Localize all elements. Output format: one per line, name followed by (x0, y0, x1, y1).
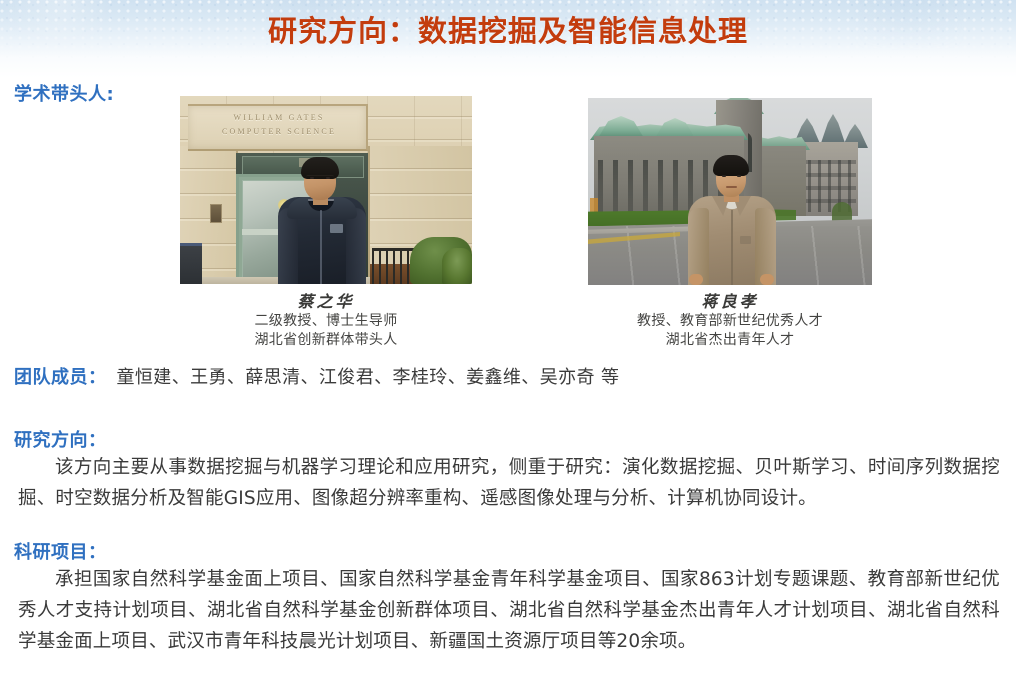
person-eye-right (737, 175, 741, 177)
leader-photo-caizhihua: WILLIAM GATES COMPUTER SCIENCE (180, 96, 472, 284)
team-members-value: 童恒建、王勇、薛思清、江俊君、李桂玲、姜鑫维、吴亦奇 等 (117, 367, 620, 388)
person-mouth (726, 186, 737, 188)
shrub-secondary (442, 248, 472, 284)
leader-title-line2: 湖北省创新群体带头人 (180, 331, 472, 350)
jacket-pocket (740, 236, 751, 244)
section-heading-projects: 科研项目： (14, 538, 107, 564)
leader-photo-jiangliangxiao (588, 98, 872, 285)
projects-paragraph: 承担国家自然科学基金面上项目、国家自然科学基金青年科学基金项目、国家863计划专… (18, 564, 1000, 657)
jacket-logo (330, 224, 343, 233)
person-hair (713, 155, 749, 176)
leader-name: 蔡之华 (180, 292, 472, 312)
leader-title-line2: 湖北省杰出青年人才 (588, 331, 872, 350)
section-heading-research: 研究方向： (14, 426, 107, 452)
jacket-zipper (731, 210, 733, 285)
jacket-zipper (320, 210, 322, 284)
person-arm-right (346, 208, 366, 284)
research-paragraph: 该方向主要从事数据挖掘与机器学习理论和应用研究，侧重于研究：演化数据挖掘、贝叶斯… (18, 452, 1000, 514)
slide-root: 研究方向：数据挖掘及智能信息处理 学术带头人: WILLIAM GATES CO… (0, 0, 1016, 683)
leader-title-line1: 二级教授、博士生导师 (180, 312, 472, 331)
section-heading-leaders: 学术带头人: (14, 80, 114, 106)
wall-plaque (210, 204, 222, 223)
leader-caption-right: 蒋良孝 教授、教育部新世纪优秀人才 湖北省杰出青年人才 (588, 292, 872, 350)
team-members-row: 团队成员：童恒建、王勇、薛思清、江俊君、李桂玲、姜鑫维、吴亦奇 等 (14, 369, 619, 387)
person-arm-left (278, 208, 298, 284)
trash-bin (180, 243, 202, 284)
leader-title-line1: 教授、教育部新世纪优秀人才 (588, 312, 872, 331)
leader-name: 蒋良孝 (588, 292, 872, 312)
team-members-label: 团队成员： (14, 367, 107, 388)
person-hand-left (689, 274, 703, 285)
person-hand-right (760, 274, 774, 285)
page-title: 研究方向：数据挖掘及智能信息处理 (0, 8, 1016, 50)
building-sign-line1: WILLIAM GATES (194, 113, 364, 122)
person-glasses (306, 175, 334, 183)
building-sign-line2: COMPUTER SCIENCE (194, 127, 364, 136)
leader-caption-left: 蔡之华 二级教授、博士生导师 湖北省创新群体带头人 (180, 292, 472, 350)
person-eye-left (722, 175, 726, 177)
